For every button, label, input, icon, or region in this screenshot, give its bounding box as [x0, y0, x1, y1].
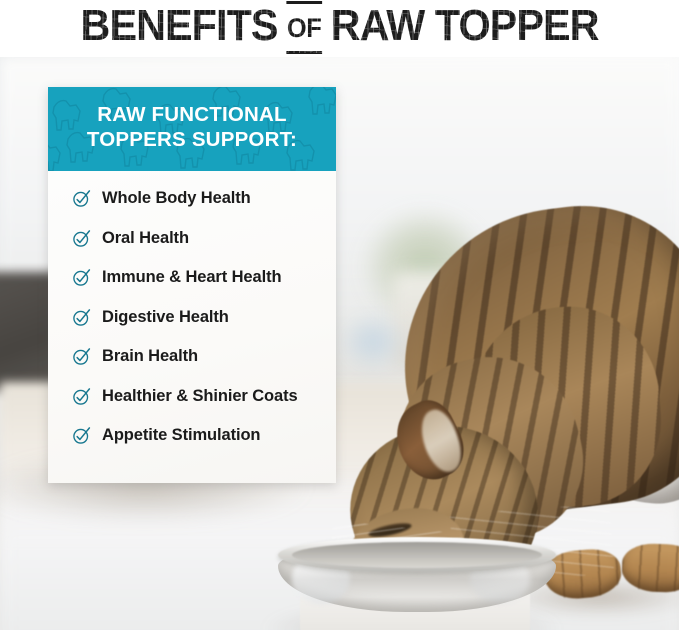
card-header-line2: TOPPERS SUPPORT: — [48, 127, 336, 152]
check-circle-icon — [72, 268, 91, 287]
benefit-label: Whole Body Health — [102, 189, 251, 208]
list-item: Oral Health — [48, 219, 336, 259]
card-body: Whole Body Health Oral Health Immune & H… — [48, 171, 336, 483]
card-header-text: RAW FUNCTIONAL TOPPERS SUPPORT: — [48, 87, 336, 152]
benefit-label: Healthier & Shinier Coats — [102, 387, 298, 406]
check-circle-icon — [72, 308, 91, 327]
benefit-label: Oral Health — [102, 229, 189, 248]
benefit-label: Appetite Stimulation — [102, 426, 260, 445]
check-circle-icon — [72, 189, 91, 208]
card-header-line1: RAW FUNCTIONAL — [97, 103, 287, 126]
benefits-card: RAW FUNCTIONAL TOPPERS SUPPORT: Whole Bo… — [48, 87, 336, 483]
bowl-interior — [292, 542, 542, 568]
check-circle-icon — [72, 387, 91, 406]
check-circle-icon — [72, 229, 91, 248]
list-item: Digestive Health — [48, 298, 336, 338]
list-item: Immune & Heart Health — [48, 258, 336, 298]
title-part-benefits: BENEFITS — [80, 4, 277, 48]
promo-graphic: BENEFITSOFRAW TOPPER — [0, 0, 679, 630]
benefits-list: Whole Body Health Oral Health Immune & H… — [48, 179, 336, 456]
title-bar: BENEFITSOFRAW TOPPER — [0, 0, 679, 57]
benefit-label: Immune & Heart Health — [102, 268, 281, 287]
page-title: BENEFITSOFRAW TOPPER — [80, 4, 598, 53]
check-circle-icon — [72, 426, 91, 445]
title-part-of: OF — [286, 6, 322, 50]
list-item: Whole Body Health — [48, 179, 336, 219]
title-part-raw-topper: RAW TOPPER — [331, 4, 599, 48]
benefit-label: Digestive Health — [102, 308, 229, 327]
list-item: Healthier & Shinier Coats — [48, 377, 336, 417]
check-circle-icon — [72, 347, 91, 366]
list-item: Appetite Stimulation — [48, 416, 336, 456]
benefit-label: Brain Health — [102, 347, 198, 366]
card-header: RAW FUNCTIONAL TOPPERS SUPPORT: — [48, 87, 336, 171]
list-item: Brain Health — [48, 337, 336, 377]
